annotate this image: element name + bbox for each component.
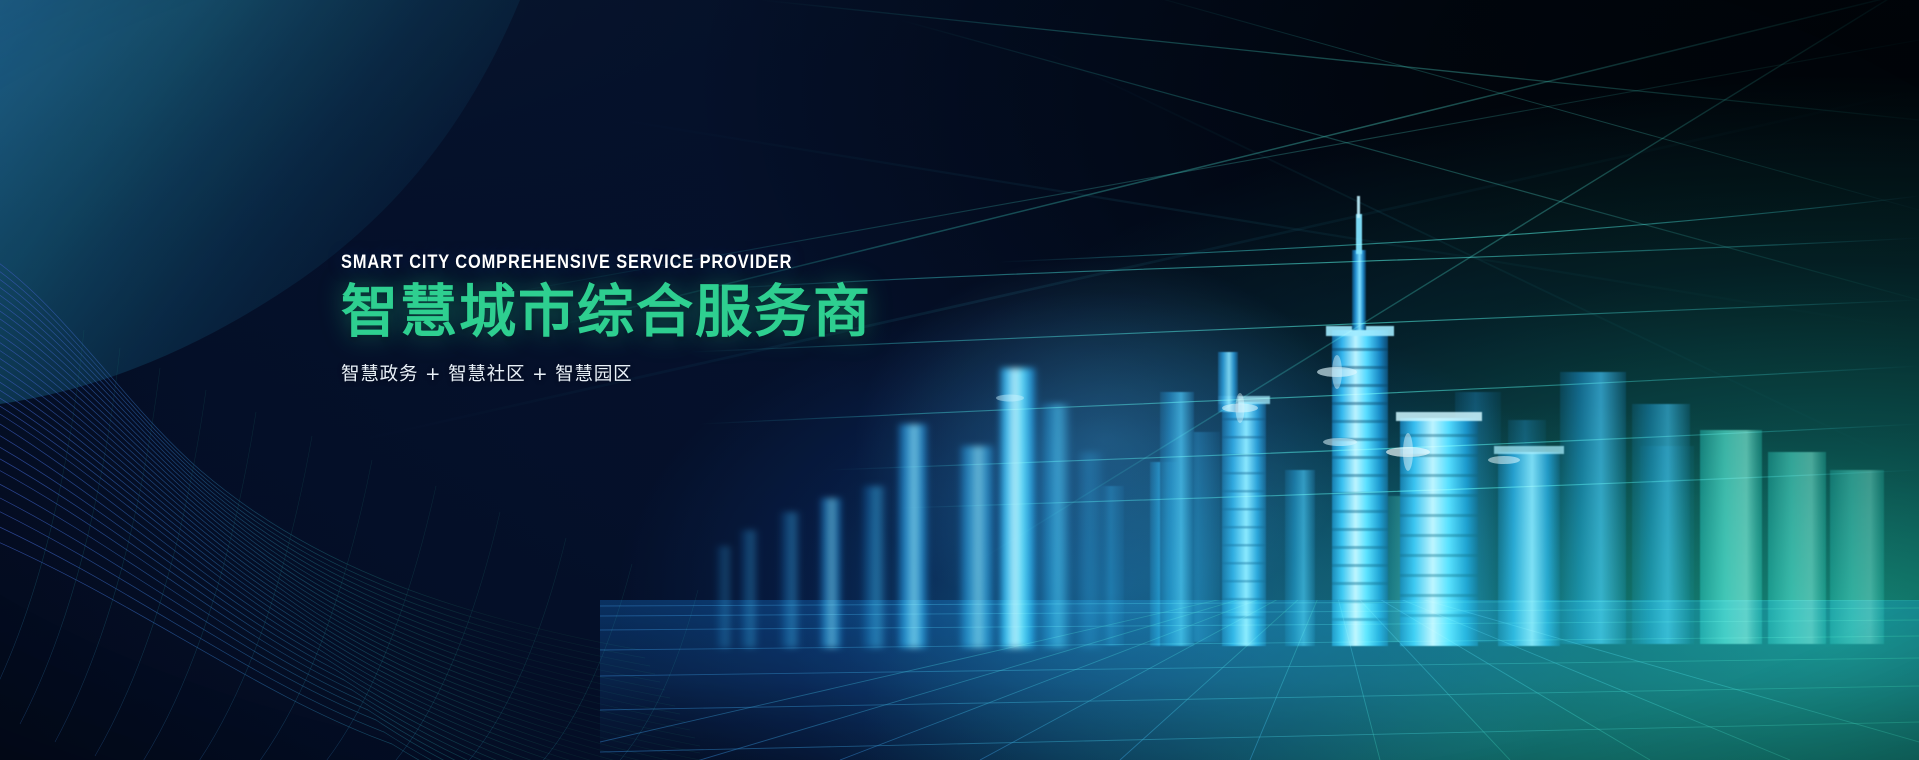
- hero-headline-chinese: 智慧城市综合服务商: [341, 281, 1101, 345]
- hero-copy-block: SMART CITY COMPREHENSIVE SERVICE PROVIDE…: [341, 252, 1101, 386]
- hero-subtitle-services: 智慧政务 + 智慧社区 + 智慧园区: [341, 360, 1101, 386]
- hero-eyebrow-english: SMART CITY COMPREHENSIVE SERVICE PROVIDE…: [341, 252, 979, 273]
- smart-city-hero-banner: SMART CITY COMPREHENSIVE SERVICE PROVIDE…: [0, 0, 1919, 760]
